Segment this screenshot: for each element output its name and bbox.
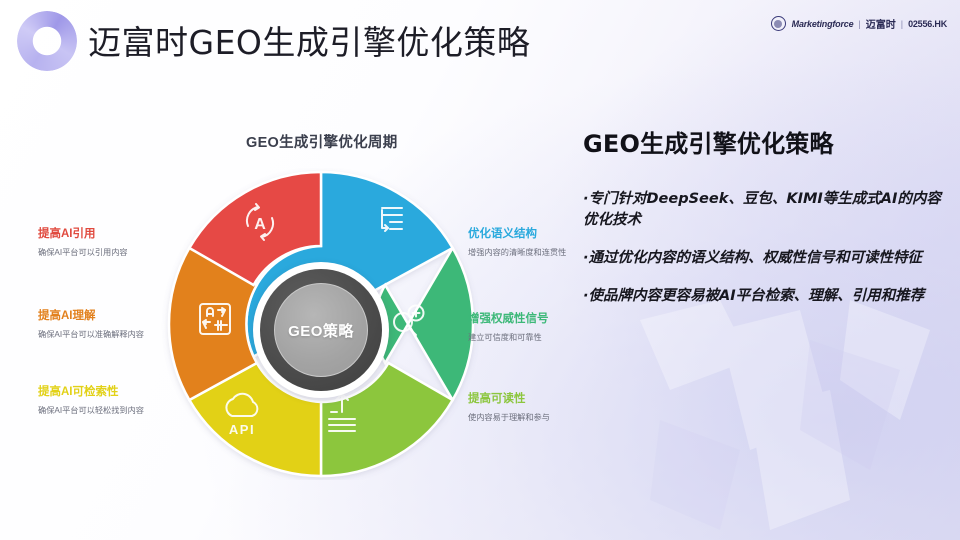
legend-title: 优化语义结构	[468, 228, 566, 242]
legend-item-readability: 提高可读性 使内容易于理解和参与	[468, 393, 550, 423]
slide-canvas: 迈富时GEO生成引擎优化策略 Marketingforce | 迈富时 | 02…	[0, 0, 960, 540]
legend-desc: 确保AI平台可以准确解释内容	[38, 330, 144, 341]
legend-desc: 确保AI平台可以轻松找到内容	[38, 406, 144, 417]
brand-separator-2: |	[901, 19, 903, 29]
legend-item-authority-signal: 增强权威性信号 建立可信度和可靠性	[468, 313, 549, 343]
compass-icon	[771, 16, 786, 31]
brand-logo: Marketingforce | 迈富时 | 02556.HK	[771, 16, 947, 31]
legend-item-semantic-structure: 优化语义结构 增强内容的清晰度和连贯性	[468, 228, 566, 258]
page-title: 迈富时GEO生成引擎优化策略	[88, 16, 530, 64]
brand-name: Marketingforce	[792, 19, 854, 29]
legend-title: 提高AI理解	[38, 310, 144, 324]
legend-item-ai-understanding: 提高AI理解 确保AI平台可以准确解释内容	[38, 310, 144, 340]
legend-title: 提高可读性	[468, 393, 550, 407]
panel-bullet-list: ·专门针对DeepSeek、豆包、KIMI等生成式AI的内容优化技术 ·通过优化…	[583, 189, 943, 307]
panel-bullet: ·通过优化内容的语义结构、权威性信号和可读性特征	[583, 248, 943, 269]
legend-item-ai-citation: 提高AI引用 确保AI平台可以引用内容	[38, 228, 128, 258]
legend-item-ai-discoverability: 提高AI可检索性 确保AI平台可以轻松找到内容	[38, 386, 144, 416]
svg-text:API: API	[229, 422, 255, 437]
legend-title: 增强权威性信号	[468, 313, 549, 327]
legend-desc: 使内容易于理解和参与	[468, 413, 550, 424]
panel-bullet: ·专门针对DeepSeek、豆包、KIMI等生成式AI的内容优化技术	[583, 189, 943, 231]
hub-inner-circle: GEO策略	[274, 283, 368, 377]
panel-heading: GEO生成引擎优化策略	[583, 124, 943, 159]
purple-ring-logo-icon	[17, 11, 77, 71]
slide-header: 迈富时GEO生成引擎优化策略 Marketingforce | 迈富时 | 02…	[0, 0, 960, 80]
legend-desc: 建立可信度和可靠性	[468, 333, 549, 344]
legend-title: 提高AI可检索性	[38, 386, 144, 400]
brand-separator-1: |	[858, 19, 860, 29]
background-watermark	[600, 300, 960, 540]
legend-title: 提高AI引用	[38, 228, 128, 242]
brand-name-cn: 迈富时	[866, 16, 896, 31]
brand-ticker: 02556.HK	[908, 19, 947, 29]
legend-desc: 确保AI平台可以引用内容	[38, 248, 128, 259]
strategy-panel: GEO生成引擎优化策略 ·专门针对DeepSeek、豆包、KIMI等生成式AI的…	[583, 124, 943, 324]
chart-title: GEO生成引擎优化周期	[246, 131, 398, 152]
hub-outer-ring: GEO策略	[260, 269, 382, 391]
panel-bullet: ·使品牌内容更容易被AI平台检索、理解、引用和推荐	[583, 286, 943, 307]
donut-center-hub: GEO策略	[253, 262, 389, 398]
hub-label: GEO策略	[288, 320, 354, 341]
legend-desc: 增强内容的清晰度和连贯性	[468, 248, 566, 259]
svg-text:A: A	[254, 216, 266, 233]
